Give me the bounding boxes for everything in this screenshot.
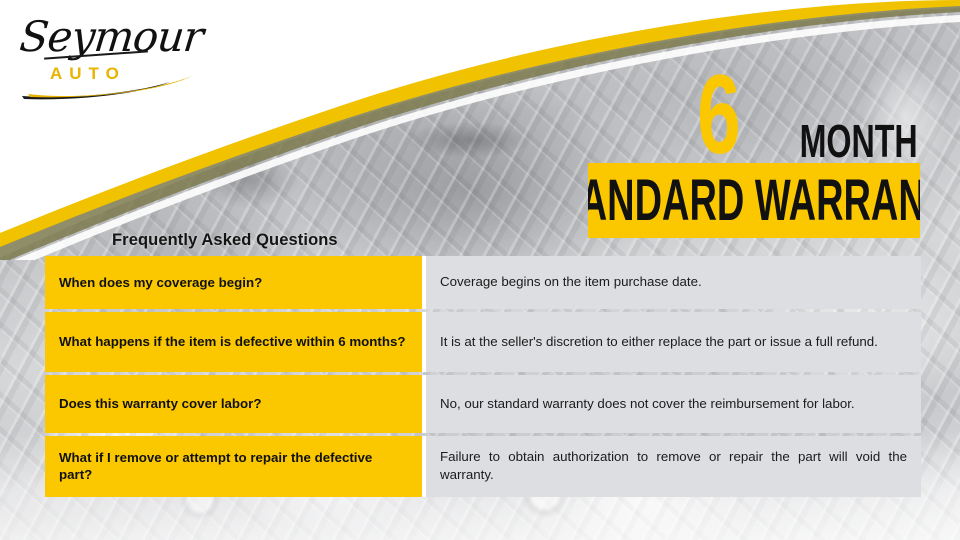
logo-script-text: Seymour [18, 16, 205, 58]
faq-question-text: What happens if the item is defective wi… [59, 333, 406, 351]
warranty-slide: Seymour AUTO 6 MONTH STANDARD WARRANTY F… [0, 0, 960, 540]
faq-answer-cell: It is at the seller's discretion to eith… [426, 312, 921, 372]
table-row: What if I remove or attempt to repair th… [45, 436, 921, 497]
faq-answer-text: It is at the seller's discretion to eith… [440, 333, 907, 351]
table-row: What happens if the item is defective wi… [45, 312, 921, 372]
standard-warranty-banner: STANDARD WARRANTY [588, 163, 920, 238]
faq-answer-text: Failure to obtain authorization to remov… [440, 448, 907, 485]
faq-section-title: Frequently Asked Questions [112, 231, 338, 250]
faq-answer-text: No, our standard warranty does not cover… [440, 395, 907, 413]
faq-answer-cell: Coverage begins on the item purchase dat… [426, 256, 921, 309]
faq-answer-text: Coverage begins on the item purchase dat… [440, 273, 907, 291]
warranty-months-number: 6 [697, 70, 739, 160]
logo-swish-icon [20, 72, 196, 100]
faq-question-text: Does this warranty cover labor? [59, 395, 261, 413]
faq-question-text: When does my coverage begin? [59, 274, 262, 292]
faq-question-cell: What happens if the item is defective wi… [45, 312, 422, 372]
seymour-auto-logo: Seymour AUTO [16, 14, 196, 100]
faq-question-cell: When does my coverage begin? [45, 256, 422, 309]
table-row: When does my coverage begin? Coverage be… [45, 256, 921, 309]
warranty-headline: 6 MONTH STANDARD WARRANTY [588, 56, 920, 238]
standard-warranty-text: STANDARD WARRANTY [588, 172, 920, 230]
faq-question-text: What if I remove or attempt to repair th… [59, 449, 408, 484]
faq-question-cell: Does this warranty cover labor? [45, 375, 422, 433]
faq-question-cell: What if I remove or attempt to repair th… [45, 436, 422, 497]
headline-duration-row: 6 MONTH [588, 56, 920, 160]
table-row: Does this warranty cover labor? No, our … [45, 375, 921, 433]
faq-answer-cell: No, our standard warranty does not cover… [426, 375, 921, 433]
faq-answer-cell: Failure to obtain authorization to remov… [426, 436, 921, 497]
warranty-months-label: MONTH [800, 123, 918, 160]
faq-table: When does my coverage begin? Coverage be… [45, 256, 921, 497]
